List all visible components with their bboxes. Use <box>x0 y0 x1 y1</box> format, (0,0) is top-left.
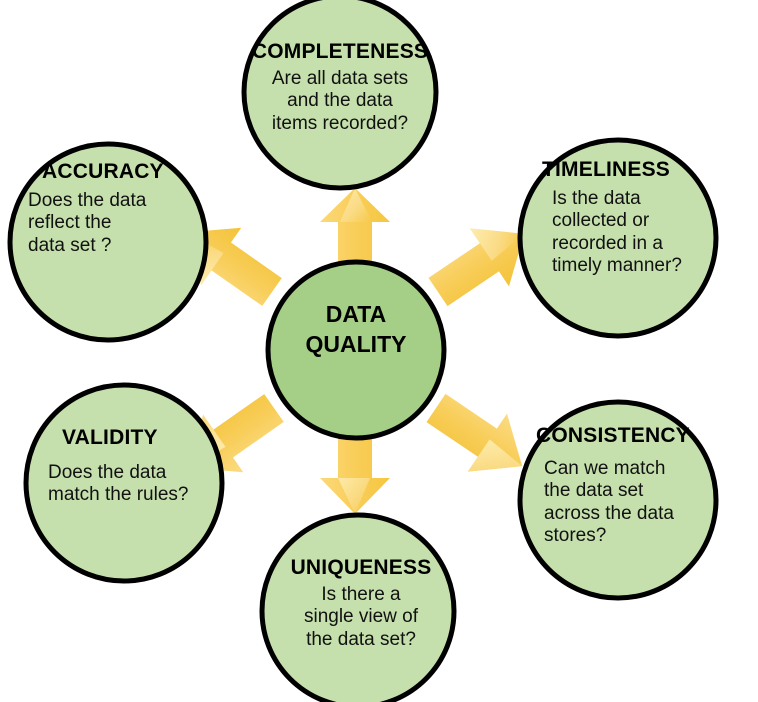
node-circle-accuracy[interactable] <box>10 144 206 340</box>
node-circle-validity[interactable] <box>26 385 222 581</box>
center-circle-data-quality[interactable] <box>268 262 444 438</box>
node-circle-timeliness[interactable] <box>520 140 716 336</box>
diagram-canvas <box>0 0 758 702</box>
node-circle-uniqueness[interactable] <box>262 515 454 702</box>
data-quality-diagram: COMPLETENESS Are all data sets and the d… <box>0 0 758 702</box>
node-circle-consistency[interactable] <box>520 402 716 598</box>
node-circle-completeness[interactable] <box>244 0 436 188</box>
